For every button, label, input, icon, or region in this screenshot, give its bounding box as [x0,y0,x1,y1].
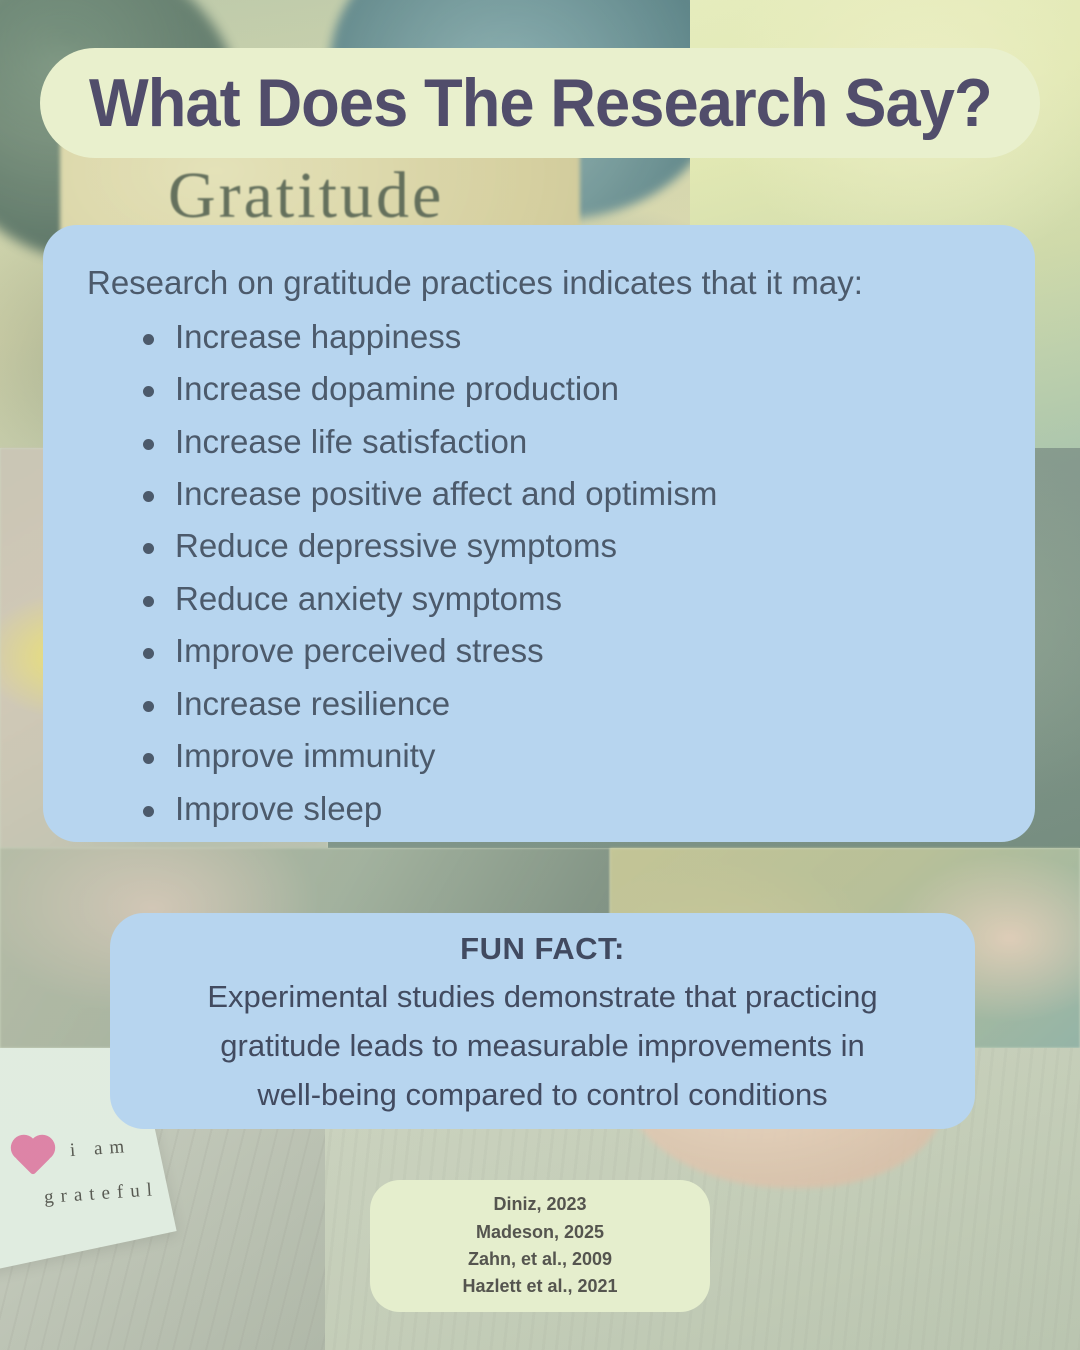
list-item: Improve perceived stress [143,625,991,677]
page-title: What Does The Research Say? [89,64,992,142]
poster-canvas: Gratitude i am grateful What Does The Re… [0,0,1080,1350]
citations-card: Diniz, 2023 Madeson, 2025 Zahn, et al., … [370,1180,710,1312]
list-item: Increase happiness [143,311,991,363]
citation-item: Hazlett et al., 2021 [462,1273,617,1300]
list-item: Increase life satisfaction [143,416,991,468]
research-findings-card: Research on gratitude practices indicate… [43,225,1035,842]
fun-fact-card: FUN FACT: Experimental studies demonstra… [110,913,975,1129]
research-lead-text: Research on gratitude practices indicate… [87,263,991,303]
list-item: Increase positive affect and optimism [143,468,991,520]
fun-fact-label: FUN FACT: [140,931,945,967]
engraved-gratitude-text: Gratitude [168,158,444,234]
citation-item: Zahn, et al., 2009 [468,1246,612,1273]
fun-fact-line-3: well-being compared to control condition… [140,1071,945,1120]
title-banner: What Does The Research Say? [40,48,1040,158]
heart-stone-text-line1: i am [69,1136,132,1162]
fun-fact-line-1: Experimental studies demonstrate that pr… [140,973,945,1022]
list-item: Improve sleep [143,783,991,835]
citation-item: Diniz, 2023 [493,1191,586,1218]
list-item: Increase resilience [143,678,991,730]
list-item: Reduce anxiety symptoms [143,573,991,625]
benefits-list: Increase happiness Increase dopamine pro… [143,311,991,836]
list-item: Reduce depressive symptoms [143,520,991,572]
list-item: Increase dopamine production [143,363,991,415]
fun-fact-line-2: gratitude leads to measurable improvemen… [140,1022,945,1071]
citation-item: Madeson, 2025 [476,1219,604,1246]
list-item: Improve immunity [143,730,991,782]
